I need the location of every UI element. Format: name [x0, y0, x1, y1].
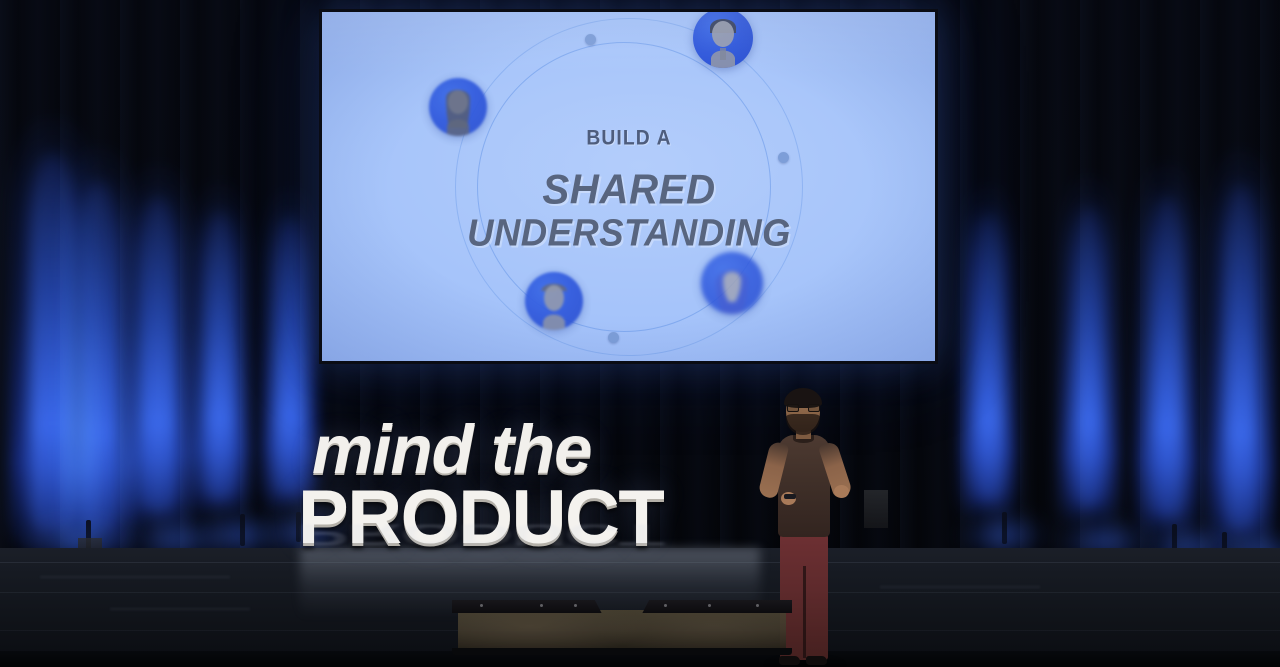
person-silhouette-icon [701, 252, 763, 314]
avatar-top-right-male [693, 12, 753, 68]
projection-screen: BUILD A SHARED UNDERSTANDING [319, 9, 938, 364]
orbit-dot [585, 34, 596, 45]
uplight-column [1208, 152, 1274, 547]
riser-base [452, 648, 792, 655]
speaker-leg-seam [803, 566, 806, 658]
orbit-dot [608, 332, 619, 343]
riser-stud [708, 604, 711, 607]
light-stand [1002, 512, 1007, 544]
uplight-column [1136, 165, 1198, 535]
sign-line-product: PRODUCT [298, 474, 663, 561]
riser-stud [756, 604, 759, 607]
slide-headline-line2: UNDERSTANDING [417, 214, 839, 252]
person-silhouette-icon [693, 12, 753, 68]
floor-scuff [40, 576, 230, 578]
person-silhouette-icon [525, 272, 583, 330]
floor-seam [0, 562, 1280, 563]
floor-scuff [880, 586, 1040, 588]
presentation-clicker [784, 494, 796, 499]
slide-headline: SHARED UNDERSTANDING [417, 168, 839, 252]
speaker-beard [786, 414, 820, 435]
riser-fabric [458, 610, 786, 651]
stage-scene: BUILD A SHARED UNDERSTANDING mind the PR… [0, 0, 1280, 667]
mind-the-product-sign: mind the PRODUCT PRODUCT [298, 414, 728, 559]
riser-stud [480, 604, 483, 607]
floor-seam [0, 592, 1280, 593]
avatar-bottom-right-person [701, 252, 763, 314]
speaker-hand-right [834, 485, 849, 498]
uplight-column [190, 185, 250, 515]
riser-stud [540, 604, 543, 607]
slide-surface: BUILD A SHARED UNDERSTANDING [322, 12, 935, 361]
avatar-bottom-left-male [525, 272, 583, 330]
glasses-icon [787, 404, 820, 412]
uplight-column [1060, 178, 1118, 523]
uplight-column [122, 167, 194, 527]
speaker-shoe-right [806, 656, 827, 665]
slide-headline-line1: SHARED [542, 165, 715, 212]
slide-text-block: BUILD A SHARED UNDERSTANDING [409, 126, 849, 252]
speaker-shoe-left [779, 656, 800, 665]
uplight-column [960, 187, 1016, 517]
slide-eyebrow: BUILD A [426, 126, 831, 150]
riser-stud [664, 604, 667, 607]
stage-riser-skirt [452, 600, 792, 655]
riser-stud [574, 604, 577, 607]
floor-scuff [110, 608, 250, 610]
light-stand [240, 514, 245, 546]
